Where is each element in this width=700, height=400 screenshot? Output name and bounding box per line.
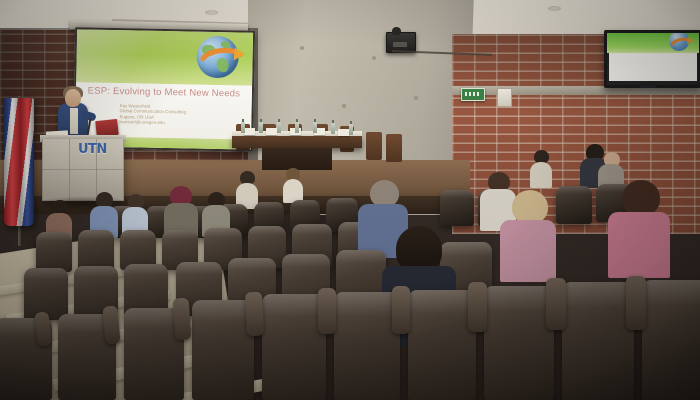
seat-armrest xyxy=(245,292,264,337)
auditorium-photo: ESP: Evolving to Meet New Needs Kay West… xyxy=(0,0,700,400)
seat-armrest xyxy=(468,282,487,332)
auditorium-seat-foreground xyxy=(484,286,554,400)
panel-chair xyxy=(386,134,402,162)
water-bottle xyxy=(331,123,335,134)
panel-chair xyxy=(366,132,382,160)
seat-armrest xyxy=(392,286,410,334)
tv-slide-body xyxy=(609,53,697,81)
water-bottle xyxy=(295,122,299,133)
tv-mount-bracket xyxy=(640,82,656,88)
arrow-icon xyxy=(200,46,244,67)
water-bottle xyxy=(277,122,281,133)
water-bottle xyxy=(241,122,245,133)
auditorium-seat xyxy=(78,230,114,270)
slide-subtext: Kay Westerfield Global Communication Con… xyxy=(119,103,239,127)
formwork-hole xyxy=(372,56,376,60)
utn-logo: UTN xyxy=(78,142,107,157)
seat-armrest xyxy=(546,278,566,330)
place-card xyxy=(266,128,277,135)
water-bottle xyxy=(349,124,353,135)
head-table xyxy=(232,136,362,148)
head-table-base xyxy=(262,148,332,170)
auditorium-seat-foreground xyxy=(562,282,634,400)
auditorium-seat-foreground xyxy=(334,292,400,400)
seat-armrest xyxy=(626,276,646,330)
wall-mounted-tv xyxy=(604,30,700,88)
water-bottle xyxy=(259,122,263,133)
auditorium-seat xyxy=(440,190,474,226)
auditorium-seat-foreground xyxy=(642,280,700,400)
formwork-hole xyxy=(414,96,418,100)
place-card xyxy=(338,129,349,136)
auditorium-seat-foreground xyxy=(192,300,254,400)
seat-armrest xyxy=(102,305,120,344)
seat-armrest xyxy=(318,288,336,334)
exit-sign xyxy=(461,88,485,101)
auditorium-seat xyxy=(36,232,72,272)
presenter-head xyxy=(65,89,81,107)
tv-arrow-icon xyxy=(671,37,693,47)
place-card xyxy=(244,128,255,135)
water-bottle xyxy=(313,122,317,133)
ceiling-vent-icon xyxy=(548,6,561,11)
presenter-shirt xyxy=(70,108,78,134)
ceiling-vent-icon xyxy=(205,10,218,15)
wall-control-box xyxy=(497,88,512,107)
auditorium-seat-foreground xyxy=(408,290,476,400)
costa-rica-flag xyxy=(4,98,34,226)
formwork-hole xyxy=(342,104,346,108)
auditorium-seat xyxy=(556,186,592,224)
formwork-hole xyxy=(300,46,304,50)
auditorium-seat-foreground xyxy=(262,294,326,400)
seat-armrest xyxy=(173,297,192,340)
